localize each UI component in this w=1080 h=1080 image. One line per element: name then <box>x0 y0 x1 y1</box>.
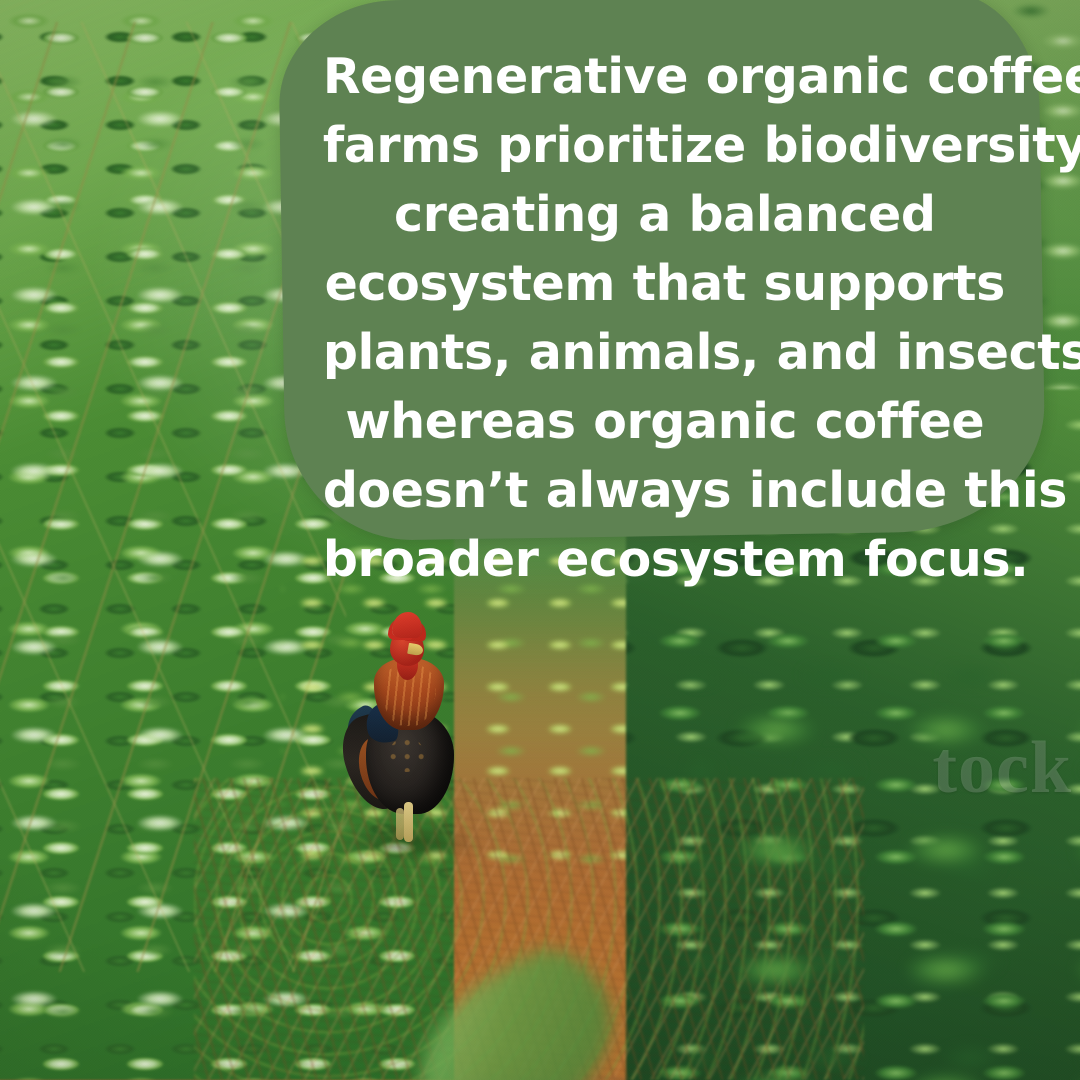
quote-line: ecosystem that supports <box>323 249 1007 318</box>
quote-line: Regenerative organic coffee <box>323 42 1007 111</box>
quote-line: plants, animals, and insects, <box>323 318 1007 387</box>
quote-text: Regenerative organic coffee farms priori… <box>323 42 1007 594</box>
rooster-back-leg <box>396 808 404 840</box>
quote-line: broader ecosystem focus. <box>323 525 1007 594</box>
quote-line: whereas organic coffee <box>323 387 1007 456</box>
rooster-front-leg <box>404 802 413 842</box>
quote-card: Regenerative organic coffee farms priori… <box>278 0 1046 542</box>
quote-line: doesn’t always include this <box>323 456 1007 525</box>
rooster <box>352 612 468 842</box>
photo-foreground-blurred-branch <box>691 670 1080 1080</box>
social-graphic-canvas: tock Regenerative organic coffee farms p… <box>0 0 1080 1080</box>
quote-line: creating a balanced <box>323 180 1007 249</box>
quote-line: farms prioritize biodiversity, <box>323 111 1007 180</box>
rooster-comb <box>392 612 422 638</box>
